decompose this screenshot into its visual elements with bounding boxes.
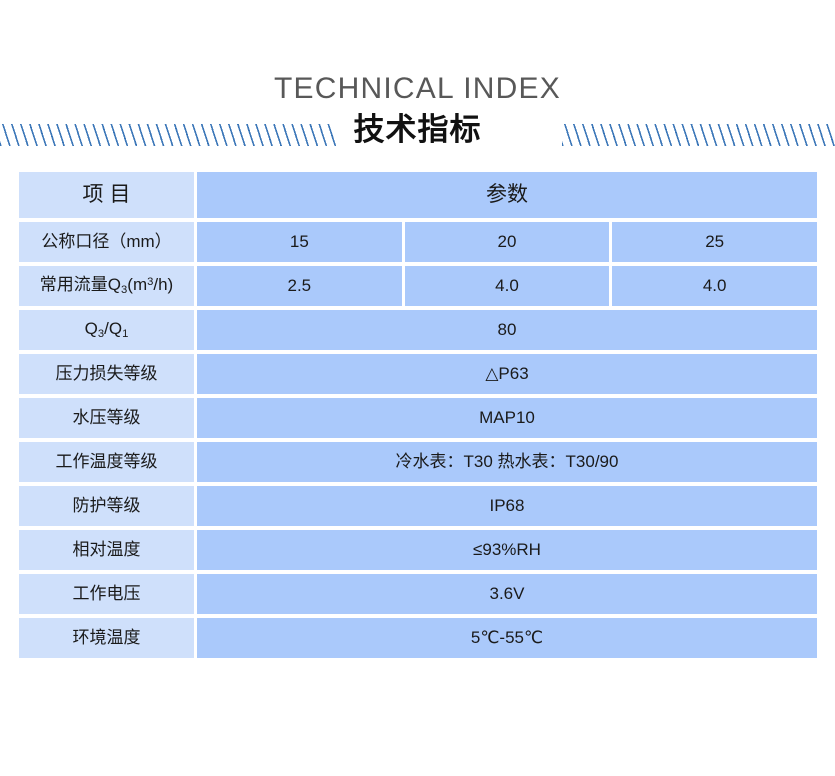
table-row: 防护等级IP68 <box>19 486 817 526</box>
table-row: 环境温度5℃-55℃ <box>19 618 817 658</box>
row-label-cell: 环境温度 <box>19 618 194 658</box>
row-value-cell: 25 <box>612 222 817 262</box>
row-value-cell: 冷水表：T30 热水表：T30/90 <box>197 442 817 482</box>
row-label-cell: 工作温度等级 <box>19 442 194 482</box>
row-label-cell: 防护等级 <box>19 486 194 526</box>
row-label-cell: 常用流量Q3(m3/h) <box>19 266 194 306</box>
table-header-label-cell: 项目 <box>19 172 194 218</box>
table-body: 项目参数公称口径（mm）152025常用流量Q3(m3/h)2.54.04.0Q… <box>19 172 817 658</box>
row-label-cell: 压力损失等级 <box>19 354 194 394</box>
row-value-cell: 4.0 <box>612 266 817 306</box>
page-title-english: TECHNICAL INDEX <box>0 72 835 106</box>
row-label-cell: 公称口径（mm） <box>19 222 194 262</box>
row-value-cell: 2.5 <box>197 266 402 306</box>
title-row: 技术指标 <box>0 108 835 156</box>
row-value-cell: △P63 <box>197 354 817 394</box>
table-header-row: 项目参数 <box>19 172 817 218</box>
row-value-cell: IP68 <box>197 486 817 526</box>
table-row: 工作温度等级冷水表：T30 热水表：T30/90 <box>19 442 817 482</box>
row-label-cell: 相对温度 <box>19 530 194 570</box>
row-value-cell: ≤93%RH <box>197 530 817 570</box>
row-value-cell: 4.0 <box>405 266 610 306</box>
row-value-cell: MAP10 <box>197 398 817 438</box>
row-label-cell: 工作电压 <box>19 574 194 614</box>
row-value-cell: 3.6V <box>197 574 817 614</box>
page-header: TECHNICAL INDEX 技术指标 <box>0 0 835 160</box>
table-header-value-cell: 参数 <box>197 172 817 218</box>
table-row: 相对温度≤93%RH <box>19 530 817 570</box>
table-row: 常用流量Q3(m3/h)2.54.04.0 <box>19 266 817 306</box>
table-row: 压力损失等级△P63 <box>19 354 817 394</box>
table-row: 工作电压3.6V <box>19 574 817 614</box>
row-value-cell: 5℃-55℃ <box>197 618 817 658</box>
table-row: 水压等级MAP10 <box>19 398 817 438</box>
table-row: Q3/Q180 <box>19 310 817 350</box>
row-value-cell: 80 <box>197 310 817 350</box>
row-label-cell: 水压等级 <box>19 398 194 438</box>
row-label-cell: Q3/Q1 <box>19 310 194 350</box>
diagonal-stripes-right-decoration <box>562 124 835 146</box>
table-row: 公称口径（mm）152025 <box>19 222 817 262</box>
technical-index-table: 项目参数公称口径（mm）152025常用流量Q3(m3/h)2.54.04.0Q… <box>16 168 820 662</box>
technical-index-table-container: 项目参数公称口径（mm）152025常用流量Q3(m3/h)2.54.04.0Q… <box>16 168 820 662</box>
row-value-cell: 15 <box>197 222 402 262</box>
row-value-cell: 20 <box>405 222 610 262</box>
